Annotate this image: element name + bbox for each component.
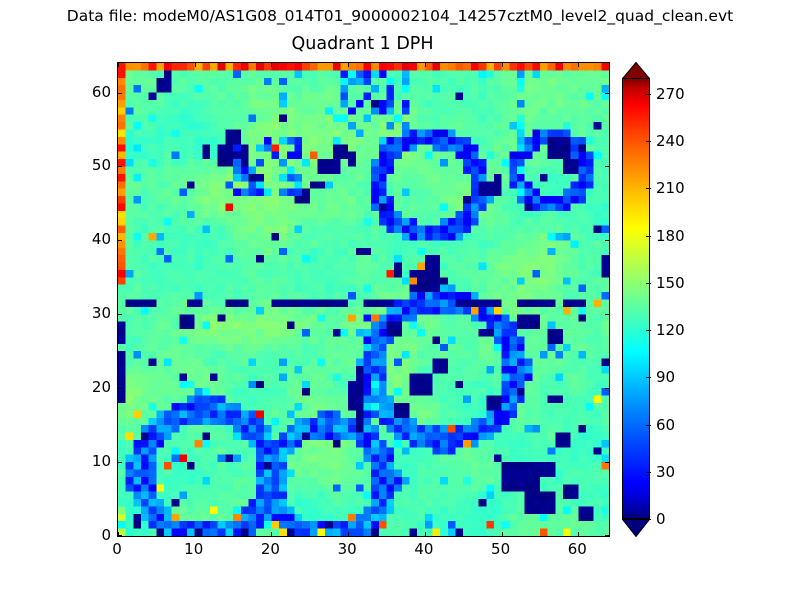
colorbar[interactable]: 0306090120150180210240270 (622, 62, 652, 537)
x-tick-label: 40 (394, 540, 454, 558)
x-tick-mark (502, 532, 503, 536)
x-tick-label: 30 (317, 540, 377, 558)
colorbar-tick-mark (646, 236, 651, 237)
colorbar-tick-mark (646, 425, 651, 426)
y-tick-mark (605, 166, 609, 167)
y-tick-mark (605, 93, 609, 94)
colorbar-tick-label: 240 (656, 132, 685, 150)
y-tick-label: 60 (65, 83, 111, 101)
y-tick-mark (118, 93, 122, 94)
y-tick-mark (118, 314, 122, 315)
colorbar-tick-label: 270 (656, 85, 685, 103)
y-tick-label: 20 (65, 378, 111, 396)
colorbar-tick-label: 180 (656, 227, 685, 245)
axes-title: Quadrant 1 DPH (117, 33, 608, 55)
x-tick-mark (195, 532, 196, 536)
heatmap-image[interactable] (118, 63, 609, 536)
colorbar-tick-mark (646, 141, 651, 142)
y-tick-mark (118, 535, 122, 536)
x-tick-mark (195, 63, 196, 67)
x-tick-mark (271, 532, 272, 536)
y-tick-mark (118, 388, 122, 389)
colorbar-tick-mark (646, 283, 651, 284)
x-tick-label: 60 (547, 540, 607, 558)
x-tick-label: 20 (240, 540, 300, 558)
y-tick-mark (118, 240, 122, 241)
colorbar-extend-min-outline (622, 519, 650, 537)
colorbar-tick-label: 30 (656, 463, 675, 481)
y-tick-label: 0 (65, 526, 111, 544)
colorbar-tick-mark (646, 377, 651, 378)
y-tick-mark (605, 314, 609, 315)
y-tick-mark (605, 388, 609, 389)
colorbar-extend-max-outline (622, 62, 650, 79)
figure-canvas: Data file: modeM0/AS1G08_014T01_90000021… (0, 0, 800, 600)
y-tick-label: 10 (65, 452, 111, 470)
colorbar-tick-label: 60 (656, 416, 675, 434)
y-tick-label: 30 (65, 304, 111, 322)
y-tick-mark (605, 240, 609, 241)
x-tick-mark (578, 532, 579, 536)
x-tick-mark (271, 63, 272, 67)
colorbar-tick-label: 0 (656, 510, 666, 528)
x-tick-mark (578, 63, 579, 67)
colorbar-tick-label: 120 (656, 321, 685, 339)
colorbar-gradient (622, 78, 650, 519)
colorbar-tick-mark (646, 188, 651, 189)
y-tick-label: 40 (65, 230, 111, 248)
y-tick-mark (118, 166, 122, 167)
y-tick-label: 50 (65, 156, 111, 174)
x-tick-mark (425, 63, 426, 67)
colorbar-tick-label: 150 (656, 274, 685, 292)
colorbar-tick-label: 210 (656, 179, 685, 197)
figure-suptitle: Data file: modeM0/AS1G08_014T01_90000021… (0, 6, 800, 26)
x-tick-label: 10 (164, 540, 224, 558)
y-tick-mark (605, 462, 609, 463)
x-tick-mark (348, 532, 349, 536)
x-tick-mark (118, 63, 119, 67)
x-tick-mark (425, 532, 426, 536)
y-tick-mark (118, 462, 122, 463)
x-tick-mark (348, 63, 349, 67)
heatmap-axes[interactable] (117, 62, 610, 537)
colorbar-tick-label: 90 (656, 368, 675, 386)
colorbar-tick-mark (646, 472, 651, 473)
y-tick-mark (605, 535, 609, 536)
x-tick-mark (502, 63, 503, 67)
colorbar-tick-mark (646, 519, 651, 520)
colorbar-tick-mark (646, 94, 651, 95)
x-tick-label: 50 (471, 540, 531, 558)
colorbar-tick-mark (646, 330, 651, 331)
